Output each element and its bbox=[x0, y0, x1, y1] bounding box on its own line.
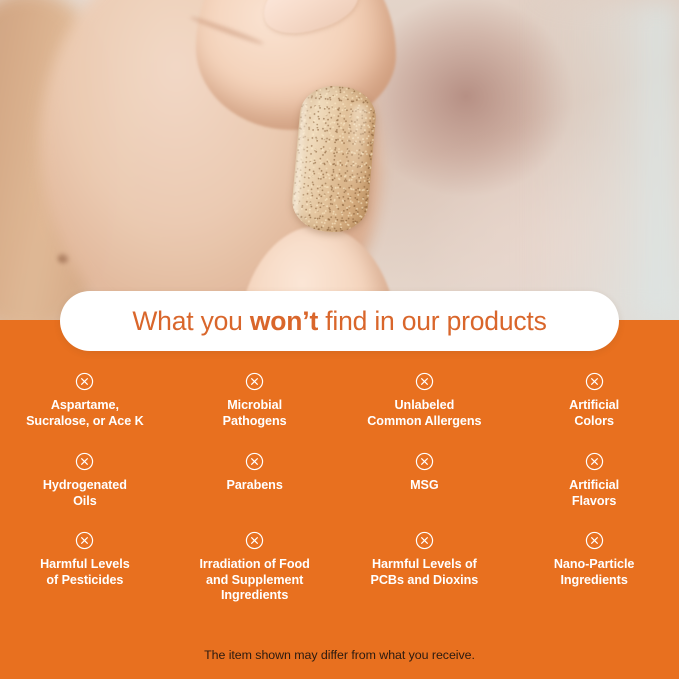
grid-row: Harmful Levels of Pesticides Irradiation… bbox=[0, 531, 679, 613]
grid-item-label: Artificial Colors bbox=[569, 398, 619, 429]
product-photo bbox=[0, 0, 679, 321]
grid-item-label: Nano-Particle Ingredients bbox=[554, 557, 635, 588]
x-circle-icon bbox=[245, 452, 264, 471]
grid-item-label: Aspartame, Sucralose, or Ace K bbox=[26, 398, 144, 429]
grid-row: Hydrogenated Oils Parabens MSG Artificia… bbox=[0, 452, 679, 531]
grid-item: Irradiation of Food and Supplement Ingre… bbox=[170, 531, 340, 613]
grid-item-label: Harmful Levels of PCBs and Dioxins bbox=[371, 557, 479, 588]
title-banner: What you won’t find in our products bbox=[60, 291, 619, 351]
claims-panel: Aspartame, Sucralose, or Ace K Microbial… bbox=[0, 320, 679, 679]
photo-background-haze bbox=[529, 0, 679, 321]
grid-item-label: Artificial Flavors bbox=[569, 478, 619, 509]
grid-item-label: Harmful Levels of Pesticides bbox=[40, 557, 130, 588]
grid-item-label: Microbial Pathogens bbox=[223, 398, 287, 429]
grid-item-label: Irradiation of Food and Supplement Ingre… bbox=[199, 557, 309, 604]
disclaimer-text: The item shown may differ from what you … bbox=[0, 648, 679, 662]
grid-item: MSG bbox=[340, 452, 510, 531]
x-circle-icon bbox=[415, 531, 434, 550]
x-circle-icon bbox=[585, 531, 604, 550]
x-circle-icon bbox=[585, 372, 604, 391]
grid-item-label: Unlabeled Common Allergens bbox=[367, 398, 481, 429]
grid-row: Aspartame, Sucralose, or Ace K Microbial… bbox=[0, 372, 679, 452]
x-circle-icon bbox=[75, 372, 94, 391]
grid-item: Unlabeled Common Allergens bbox=[340, 372, 510, 452]
supplement-tablet bbox=[290, 83, 378, 235]
excluded-ingredients-grid: Aspartame, Sucralose, or Ace K Microbial… bbox=[0, 372, 679, 613]
grid-item: Harmful Levels of Pesticides bbox=[0, 531, 170, 613]
grid-item: Nano-Particle Ingredients bbox=[509, 531, 679, 613]
grid-item: Parabens bbox=[170, 452, 340, 531]
page-title-emphasis: won’t bbox=[250, 306, 318, 336]
page-title-suffix: find in our products bbox=[318, 306, 547, 336]
page-title: What you won’t find in our products bbox=[132, 306, 546, 337]
x-circle-icon bbox=[585, 452, 604, 471]
x-circle-icon bbox=[245, 372, 264, 391]
x-circle-icon bbox=[75, 452, 94, 471]
grid-item: Artificial Flavors bbox=[509, 452, 679, 531]
grid-item: Harmful Levels of PCBs and Dioxins bbox=[340, 531, 510, 613]
grid-item: Aspartame, Sucralose, or Ace K bbox=[0, 372, 170, 452]
x-circle-icon bbox=[415, 372, 434, 391]
x-circle-icon bbox=[75, 531, 94, 550]
x-circle-icon bbox=[245, 531, 264, 550]
page-title-prefix: What you bbox=[132, 306, 250, 336]
grid-item: Artificial Colors bbox=[509, 372, 679, 452]
grid-item-label: MSG bbox=[410, 478, 439, 494]
grid-item-label: Parabens bbox=[226, 478, 282, 494]
x-circle-icon bbox=[415, 452, 434, 471]
grid-item-label: Hydrogenated Oils bbox=[43, 478, 127, 509]
product-claims-panel: What you won’t find in our products Aspa… bbox=[0, 0, 679, 679]
grid-item: Hydrogenated Oils bbox=[0, 452, 170, 531]
grid-item: Microbial Pathogens bbox=[170, 372, 340, 452]
